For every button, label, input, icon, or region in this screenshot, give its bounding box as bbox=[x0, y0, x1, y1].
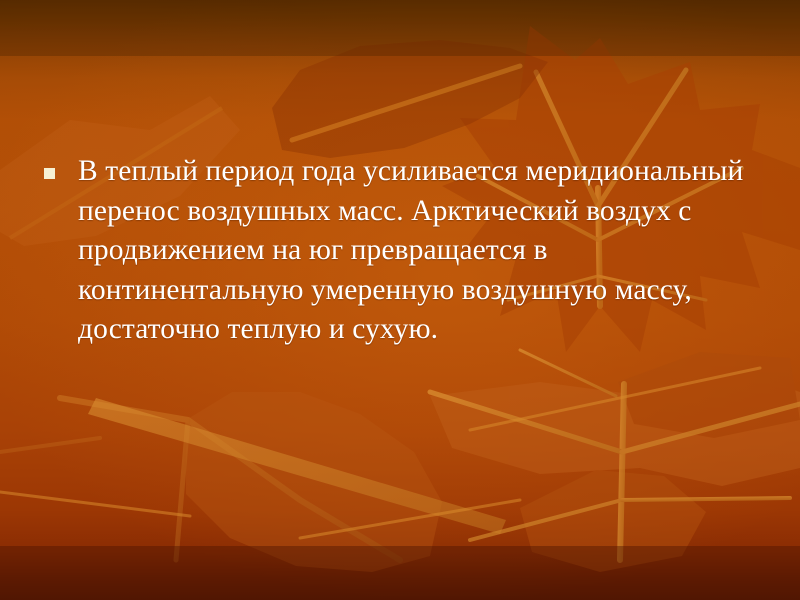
square-bullet-icon bbox=[44, 168, 55, 179]
bullet-list-item[interactable]: В теплый период года усиливается меридио… bbox=[44, 152, 756, 350]
bullet-paragraph-text: В теплый период года усиливается меридио… bbox=[78, 152, 756, 350]
slide-content-area: В теплый период года усиливается меридио… bbox=[0, 0, 800, 600]
presentation-slide: В теплый период года усиливается меридио… bbox=[0, 0, 800, 600]
